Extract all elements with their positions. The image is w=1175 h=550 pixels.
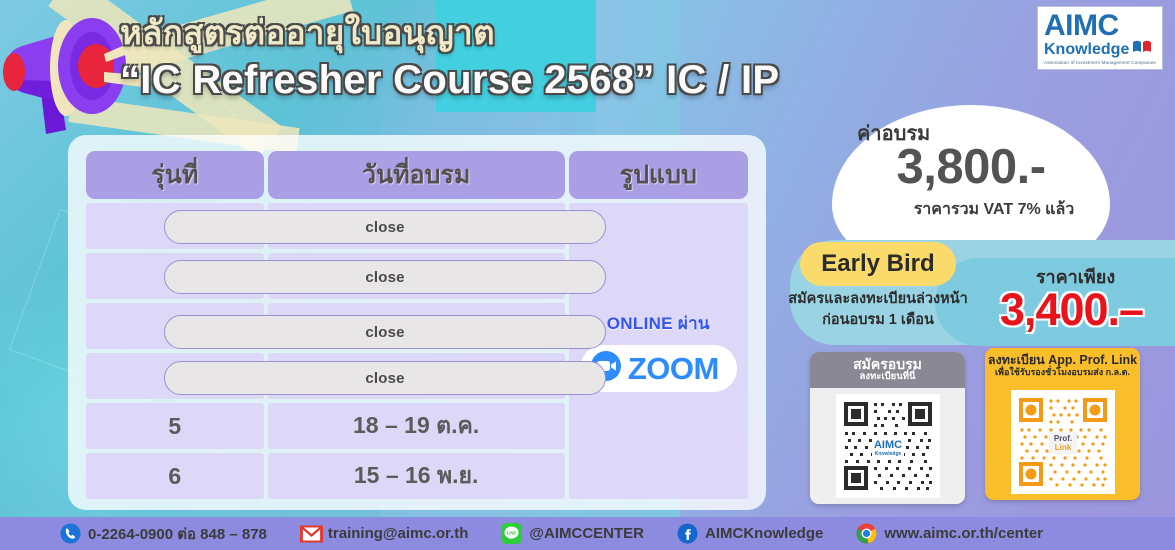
chrome-icon [856, 523, 877, 544]
svg-text:Knowledge: Knowledge [874, 451, 901, 457]
qr-register-subtitle: ลงทะเบียนที่นี่ [860, 372, 916, 382]
line-icon: LINE [501, 523, 522, 544]
early-bird-description: สมัครและลงทะเบียนล่วงหน้า ก่อนอบรม 1 เดื… [778, 289, 978, 331]
qr-code-icon[interactable]: Prof. Link [1011, 390, 1115, 494]
contact-line[interactable]: LINE @AIMCCENTER [501, 523, 644, 544]
table-header-format: รูปแบบ [569, 151, 748, 199]
zoom-text: ZOOM [628, 351, 719, 387]
gmail-icon [300, 523, 321, 544]
logo-knowledge-text: Knowledge [1044, 42, 1129, 58]
qr-prof-link-subtitle: เพื่อใช้รับรองชั่วโมงอบรมส่ง ก.ล.ต. [995, 368, 1130, 378]
title-block: หลักสูตรต่ออายุใบอนุญาต “IC Refresher Co… [120, 12, 920, 105]
cell-batch: 6 [86, 453, 264, 499]
status-badge-closed: close [164, 361, 606, 395]
svg-text:AIMC: AIMC [873, 439, 901, 451]
qr-prof-link-title: ลงทะเบียน App. Prof. Link [988, 354, 1137, 368]
page-title-thai: หลักสูตรต่ออายุใบอนุญาต [120, 12, 920, 53]
contact-phone[interactable]: 0-2264-0900 ต่อ 848 – 878 [60, 522, 267, 546]
contact-facebook-text: AIMCKnowledge [705, 525, 823, 542]
qr-card-register-body: AIMC Knowledge [810, 388, 965, 504]
qr-card-prof-link-header: ลงทะเบียน App. Prof. Link เพื่อใช้รับรอง… [985, 348, 1140, 384]
fee-amount: 3,800.- [832, 139, 1110, 195]
schedule-table-card: รุ่นที่ วันที่อบรม รูปแบบ 1 ONLINE ผ่าน [68, 135, 766, 510]
contact-phone-text: 0-2264-0900 ต่อ 848 – 878 [88, 522, 267, 546]
facebook-icon [677, 523, 698, 544]
contact-website[interactable]: www.aimc.or.th/center [856, 523, 1043, 544]
cell-format-online: ONLINE ผ่าน ZOOM [569, 203, 748, 499]
logo-aimc-text: AIMC [1044, 12, 1156, 40]
table-header-row: รุ่นที่ วันที่อบรม รูปแบบ [86, 151, 748, 199]
early-bird-desc-line2: ก่อนอบรม 1 เดือน [778, 310, 978, 331]
qr-card-prof-link[interactable]: ลงทะเบียน App. Prof. Link เพื่อใช้รับรอง… [985, 348, 1140, 500]
svg-text:Link: Link [1054, 443, 1071, 452]
vat-note: ราคารวม VAT 7% แล้ว [832, 197, 1110, 222]
qr-code-icon[interactable]: AIMC Knowledge [836, 394, 940, 498]
contact-website-text: www.aimc.or.th/center [884, 525, 1043, 542]
qr-card-prof-link-body: Prof. Link [985, 384, 1140, 500]
status-badge-closed: close [164, 210, 606, 244]
page-title-english: “IC Refresher Course 2568” IC / IP [120, 55, 920, 105]
phone-icon [60, 523, 81, 544]
early-bird-badge: Early Bird [800, 242, 956, 286]
contact-line-text: @AIMCCENTER [529, 525, 644, 542]
table-header-batch: รุ่นที่ [86, 151, 264, 199]
contact-facebook[interactable]: AIMCKnowledge [677, 523, 823, 544]
footer-contact-bar: 0-2264-0900 ต่อ 848 – 878 training@aimc.… [0, 517, 1175, 550]
open-book-icon [1132, 39, 1152, 58]
contact-email-text: training@aimc.or.th [328, 525, 468, 542]
early-bird-price: 3,400.– [968, 284, 1175, 336]
logo-subtitle: Association of Investment Management Com… [1044, 60, 1156, 65]
status-badge-closed: close [164, 315, 606, 349]
cell-date: 15 – 16 พ.ย. [268, 453, 565, 499]
cell-batch: 5 [86, 403, 264, 449]
qr-card-register[interactable]: สมัครอบรม ลงทะเบียนที่นี่ [810, 352, 965, 504]
contact-email[interactable]: training@aimc.or.th [300, 523, 468, 544]
early-bird-desc-line1: สมัครและลงทะเบียนล่วงหน้า [778, 289, 978, 310]
poster-canvas: หลักสูตรต่ออายุใบอนุญาต “IC Refresher Co… [0, 0, 1175, 550]
svg-text:LINE: LINE [507, 530, 517, 535]
qr-card-register-header: สมัครอบรม ลงทะเบียนที่นี่ [810, 352, 965, 388]
cell-date: 18 – 19 ต.ค. [268, 403, 565, 449]
svg-text:Prof.: Prof. [1053, 434, 1071, 443]
status-badge-closed: close [164, 260, 606, 294]
table-header-date: วันที่อบรม [268, 151, 565, 199]
aimc-knowledge-logo: AIMC Knowledge Association of Investment… [1037, 6, 1163, 70]
